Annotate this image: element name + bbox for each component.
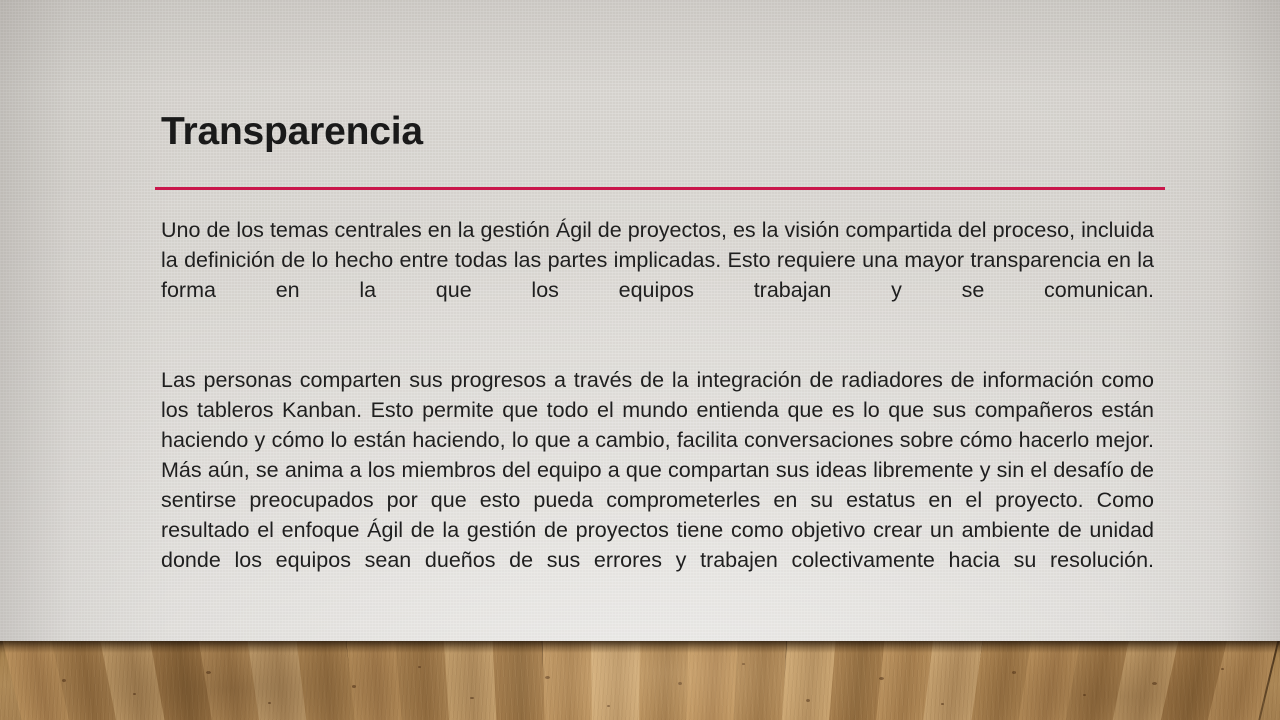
floor-plank — [639, 641, 691, 720]
paragraph-spacer — [161, 335, 1154, 365]
floor-plank-face — [639, 641, 691, 720]
floor-knot-mark — [206, 671, 211, 674]
floor-plank-face — [542, 641, 596, 720]
floor-knot-mark — [352, 685, 356, 688]
body-paragraph-2: Las personas comparten sus progresos a t… — [161, 365, 1154, 605]
floor-plank-face — [591, 641, 643, 720]
floor-knot-mark — [1152, 682, 1157, 685]
floor-knot-mark — [1221, 668, 1224, 670]
floor-knot-mark — [545, 676, 550, 679]
floor-knot-mark — [941, 703, 944, 705]
floor-knot-mark — [678, 682, 682, 685]
floor-knot-mark — [607, 705, 610, 707]
floor-plank-face — [492, 641, 548, 720]
slide-body-text: Uno de los temas centrales en la gestión… — [161, 215, 1154, 605]
floor-plank — [542, 641, 596, 720]
floor-plank — [492, 641, 548, 720]
floor-plank — [733, 641, 789, 720]
floor-plank-face — [686, 641, 740, 720]
floor-knot-mark — [268, 702, 271, 704]
floor-knot-mark — [133, 693, 136, 695]
body-paragraph-1: Uno de los temas centrales en la gestión… — [161, 215, 1154, 335]
title-divider-rule — [155, 187, 1165, 190]
floor-knot-mark — [1083, 694, 1086, 696]
presentation-slide: Transparencia Uno de los temas centrales… — [0, 0, 1280, 720]
floor-knot-mark — [470, 697, 474, 699]
floor-knot-mark — [742, 663, 745, 665]
floor-plank-face — [733, 641, 789, 720]
wooden-floor — [0, 641, 1280, 720]
floor-knot-mark — [62, 679, 66, 682]
floor-knot-mark — [806, 699, 810, 702]
floor-plank — [686, 641, 740, 720]
page-title: Transparencia — [161, 110, 423, 154]
floor-plank — [591, 641, 643, 720]
floor-knot-mark — [1012, 671, 1016, 674]
floor-knot-mark — [418, 666, 421, 668]
floor-knot-mark — [879, 677, 884, 680]
